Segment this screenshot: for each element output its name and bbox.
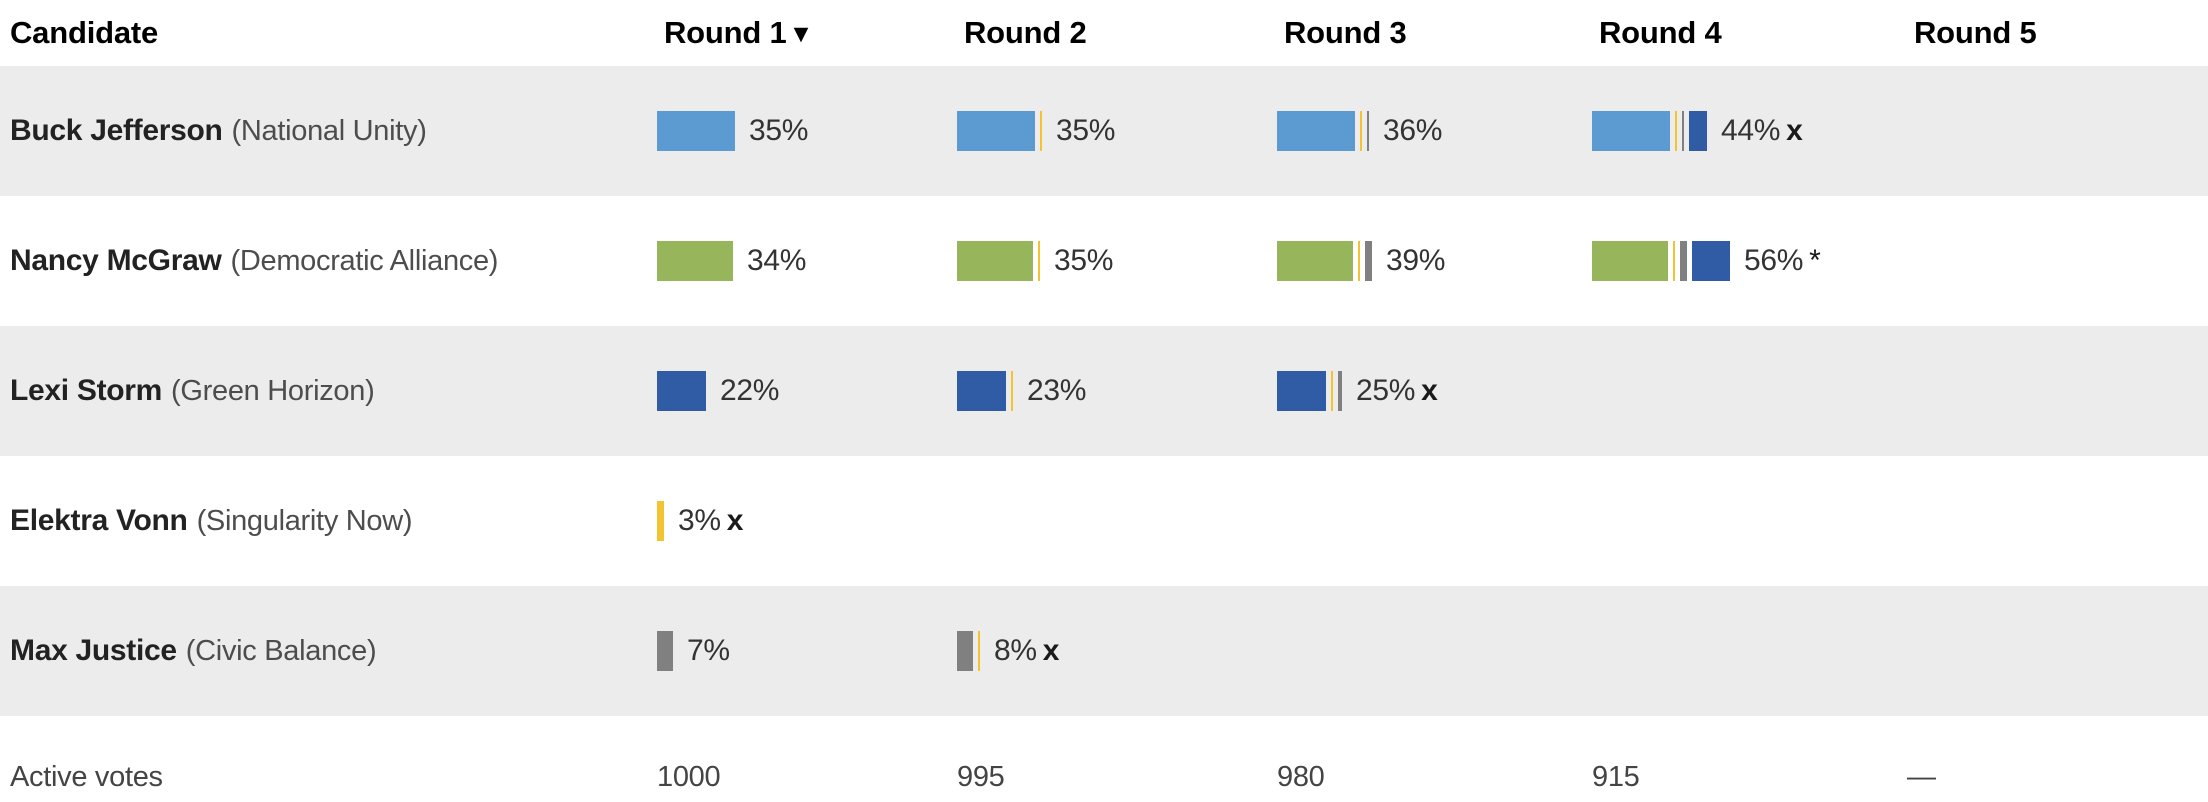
round-result-cell[interactable]: 7% (657, 631, 730, 671)
bar-segment-base (657, 501, 664, 541)
table-row: Lexi Storm(Green Horizon)22%23%25%x (0, 326, 2208, 456)
bar-segment-transfer (1675, 111, 1677, 151)
bar-segment-transfer (978, 631, 980, 671)
vote-share-bar (657, 111, 735, 151)
bar-segment-base (957, 111, 1035, 151)
vote-share-bar (657, 501, 664, 541)
column-header-label: Round 2 (964, 15, 1087, 51)
vote-share-label: 25%x (1356, 374, 1438, 408)
vote-share-value: 39% (1386, 244, 1445, 277)
bar-segment-base (1592, 111, 1670, 151)
vote-share-bar (657, 631, 673, 671)
vote-share-value: 36% (1383, 114, 1442, 147)
vote-share-label: 23% (1027, 374, 1086, 408)
vote-share-label: 36% (1383, 114, 1442, 148)
vote-share-label: 3%x (678, 504, 743, 538)
eliminated-badge: x (1786, 114, 1802, 147)
vote-share-value: 25% (1356, 374, 1415, 407)
candidate-party: (Green Horizon) (171, 375, 374, 408)
candidate-party: (Democratic Alliance) (230, 245, 498, 278)
vote-share-bar (1277, 371, 1342, 411)
vote-share-bar (1277, 111, 1369, 151)
bar-segment-base (657, 371, 706, 411)
active-votes-value-round-1: 1000 (657, 761, 720, 794)
bar-segment-base (1592, 241, 1668, 281)
round-result-cell[interactable]: 25%x (1277, 371, 1438, 411)
candidate-cell[interactable]: Lexi Storm(Green Horizon) (10, 326, 630, 456)
vote-share-bar (657, 371, 706, 411)
bar-segment-base (657, 111, 735, 151)
candidate-name: Max Justice (10, 634, 177, 668)
column-header-candidate[interactable]: Candidate (10, 0, 158, 66)
bar-segment-transfer (1367, 111, 1369, 151)
column-header-round-2[interactable]: Round 2 (964, 0, 1087, 66)
bar-segment-transfer (1365, 241, 1372, 281)
round-result-cell[interactable]: 56%* (1592, 241, 1821, 281)
candidate-party: (Civic Balance) (186, 635, 377, 668)
winner-badge: * (1809, 244, 1820, 277)
bar-segment-transfer (1680, 241, 1687, 281)
bar-segment-base (657, 241, 733, 281)
vote-share-value: 7% (687, 634, 730, 667)
active-votes-value-round-2: 995 (957, 761, 1005, 794)
bar-segment-transfer (1011, 371, 1013, 411)
vote-share-label: 35% (1054, 244, 1113, 278)
vote-share-label: 56%* (1744, 244, 1821, 278)
vote-share-value: 3% (678, 504, 721, 537)
round-result-cell[interactable]: 8%x (957, 631, 1059, 671)
vote-share-value: 35% (749, 114, 808, 147)
vote-share-bar (957, 631, 980, 671)
ranked-choice-results-table: CandidateRound 1▼Round 2Round 3Round 4Ro… (0, 0, 2208, 802)
round-result-cell[interactable]: 22% (657, 371, 779, 411)
table-row: Elektra Vonn(Singularity Now)3%x (0, 456, 2208, 586)
bar-segment-base (957, 631, 973, 671)
column-header-round-1[interactable]: Round 1▼ (664, 0, 813, 66)
candidate-name: Elektra Vonn (10, 504, 188, 538)
active-votes-value-round-3: 980 (1277, 761, 1325, 794)
candidate-cell[interactable]: Elektra Vonn(Singularity Now) (10, 456, 630, 586)
candidate-cell[interactable]: Nancy McGraw(Democratic Alliance) (10, 196, 630, 326)
bar-segment-transfer (1331, 371, 1333, 411)
round-result-cell[interactable]: 35% (957, 241, 1113, 281)
vote-share-label: 39% (1386, 244, 1445, 278)
vote-share-value: 34% (747, 244, 806, 277)
bar-segment-transfer (1689, 111, 1707, 151)
vote-share-value: 8% (994, 634, 1037, 667)
vote-share-bar (1592, 241, 1730, 281)
column-header-round-4[interactable]: Round 4 (1599, 0, 1722, 66)
vote-share-bar (957, 371, 1013, 411)
table-header-row: CandidateRound 1▼Round 2Round 3Round 4Ro… (0, 0, 2208, 66)
vote-share-label: 22% (720, 374, 779, 408)
vote-share-value: 23% (1027, 374, 1086, 407)
candidate-name: Buck Jefferson (10, 114, 223, 148)
bar-segment-transfer (1673, 241, 1675, 281)
column-header-round-5[interactable]: Round 5 (1914, 0, 2037, 66)
vote-share-value: 35% (1056, 114, 1115, 147)
vote-share-bar (1592, 111, 1707, 151)
vote-share-bar (1277, 241, 1372, 281)
active-votes-value-round-4: 915 (1592, 761, 1640, 794)
active-votes-row: Active votes1000995980915— (0, 716, 2208, 802)
vote-share-label: 44%x (1721, 114, 1803, 148)
vote-share-label: 35% (749, 114, 808, 148)
active-votes-label: Active votes (10, 761, 163, 794)
vote-share-label: 7% (687, 634, 730, 668)
bar-segment-transfer (1038, 241, 1040, 281)
candidate-party: (National Unity) (232, 115, 427, 148)
vote-share-value: 35% (1054, 244, 1113, 277)
vote-share-bar (957, 241, 1040, 281)
round-result-cell[interactable]: 3%x (657, 501, 743, 541)
vote-share-bar (657, 241, 733, 281)
round-result-cell[interactable]: 39% (1277, 241, 1445, 281)
round-result-cell[interactable]: 36% (1277, 111, 1442, 151)
column-header-round-3[interactable]: Round 3 (1284, 0, 1407, 66)
active-votes-value-round-5: — (1907, 761, 1936, 794)
table-row: Buck Jefferson(National Unity)35%35%36%4… (0, 66, 2208, 196)
bar-segment-transfer (1358, 241, 1360, 281)
vote-share-value: 56% (1744, 244, 1803, 277)
bar-segment-transfer (1040, 111, 1042, 151)
bar-segment-transfer (1360, 111, 1362, 151)
bar-segment-base (657, 631, 673, 671)
sort-descending-icon[interactable]: ▼ (789, 22, 814, 47)
candidate-name: Nancy McGraw (10, 244, 221, 278)
bar-segment-transfer (1692, 241, 1730, 281)
column-header-label: Round 3 (1284, 15, 1407, 51)
bar-segment-base (957, 241, 1033, 281)
round-result-cell[interactable]: 23% (957, 371, 1086, 411)
vote-share-label: 35% (1056, 114, 1115, 148)
eliminated-badge: x (727, 504, 743, 537)
round-result-cell[interactable]: 35% (957, 111, 1115, 151)
vote-share-label: 8%x (994, 634, 1059, 668)
candidate-cell[interactable]: Buck Jefferson(National Unity) (10, 66, 630, 196)
candidate-cell[interactable]: Max Justice(Civic Balance) (10, 586, 630, 716)
eliminated-badge: x (1421, 374, 1437, 407)
bar-segment-transfer (1338, 371, 1342, 411)
candidate-party: (Singularity Now) (197, 505, 413, 538)
bar-segment-base (1277, 111, 1355, 151)
vote-share-bar (957, 111, 1042, 151)
bar-segment-base (1277, 241, 1353, 281)
vote-share-value: 22% (720, 374, 779, 407)
column-header-label: Round 5 (1914, 15, 2037, 51)
column-header-label: Round 4 (1599, 15, 1722, 51)
round-result-cell[interactable]: 44%x (1592, 111, 1803, 151)
bar-segment-base (957, 371, 1006, 411)
vote-share-value: 44% (1721, 114, 1780, 147)
candidate-name: Lexi Storm (10, 374, 162, 408)
vote-share-label: 34% (747, 244, 806, 278)
bar-segment-base (1277, 371, 1326, 411)
table-row: Max Justice(Civic Balance)7%8%x (0, 586, 2208, 716)
table-row: Nancy McGraw(Democratic Alliance)34%35%3… (0, 196, 2208, 326)
round-result-cell[interactable]: 35% (657, 111, 808, 151)
round-result-cell[interactable]: 34% (657, 241, 806, 281)
column-header-label: Round 1 (664, 15, 787, 51)
eliminated-badge: x (1043, 634, 1059, 667)
bar-segment-transfer (1682, 111, 1684, 151)
